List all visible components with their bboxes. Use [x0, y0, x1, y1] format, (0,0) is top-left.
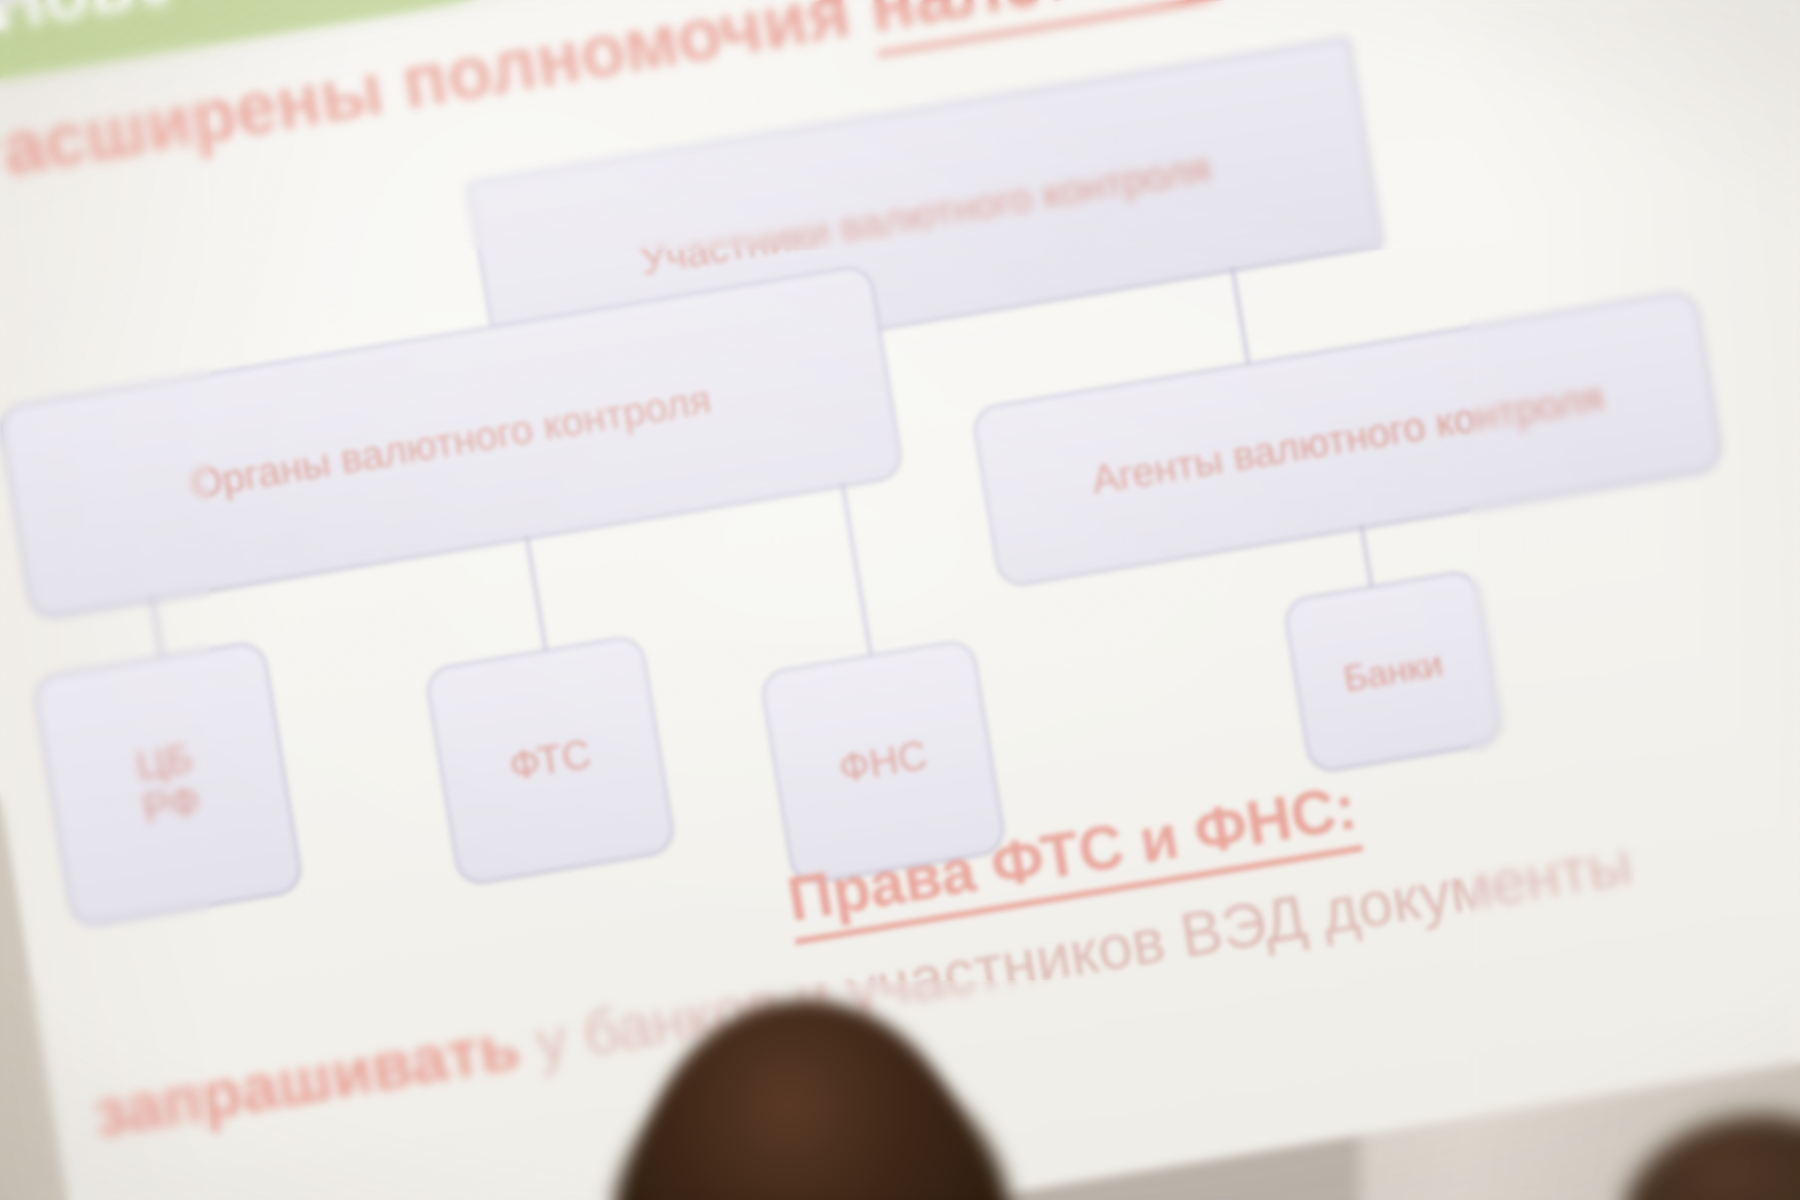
connector-agents-banks: [1360, 525, 1373, 589]
diagram-node-agents: Агенты валютного контроля: [971, 289, 1725, 588]
diagram-node-label: ФТС: [506, 732, 594, 790]
presentation-slide: Новое в валютном законодательстве с 01 с…: [0, 0, 1800, 1200]
diagram-node-label: Органы валютного контроля: [188, 377, 714, 507]
connector-organs-cbrf: [150, 597, 163, 659]
projection-screen: Новое в валютном законодательстве с 01 с…: [0, 0, 1800, 1200]
connector-organs-fts: [525, 535, 547, 652]
screen-surface: Новое в валютном законодательстве с 01 с…: [0, 0, 1800, 1200]
diagram-node-label: Агенты валютного контроля: [1089, 374, 1607, 503]
diagram-node-label: ФНС: [836, 733, 930, 792]
diagram-node-label: Участники валютного контроля: [637, 146, 1213, 285]
diagram-node-banks: Банки: [1282, 569, 1504, 775]
diagram-node-label: Банки: [1341, 643, 1446, 701]
diagram-node-cbrf: ЦБ РФ: [32, 640, 304, 929]
diagram-node-label-line2: РФ: [140, 779, 203, 831]
connector-organs-fns: [841, 483, 873, 657]
photo-scene: Новое в валютном законодательстве с 01 с…: [0, 0, 1800, 1200]
diagram-node-fts: ФТС: [424, 634, 677, 887]
body-text-strong: запрашивать: [88, 1008, 525, 1151]
diagram-node-organs: Органы валютного контроля: [0, 264, 905, 621]
